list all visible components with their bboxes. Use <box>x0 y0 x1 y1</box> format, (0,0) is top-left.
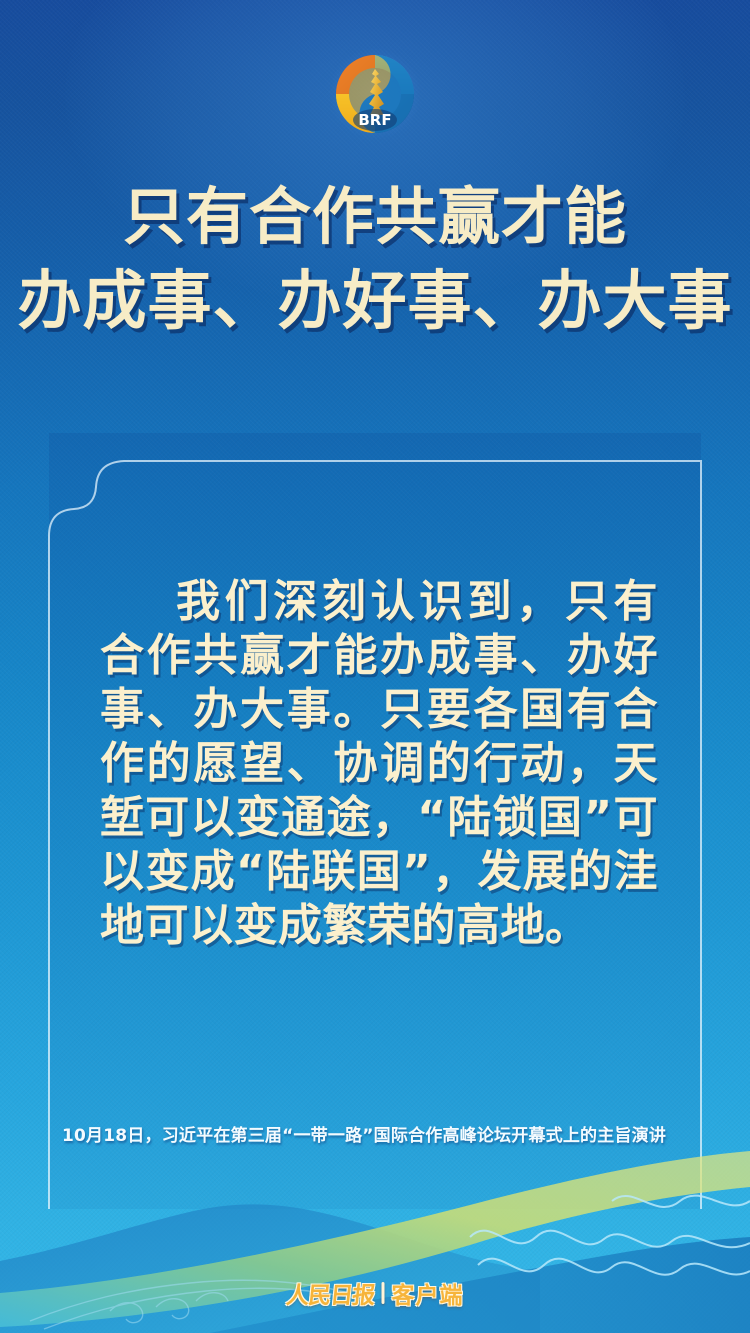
footer-logo[interactable]: 人民日报 客户端 <box>287 1276 464 1310</box>
brf-emblem: BRF <box>329 48 421 140</box>
quote-text: 我们深刻认识到，只有合作共赢才能办成事、办好事、办大事。只要各国有合作的愿望、协… <box>100 575 658 953</box>
emblem-wordmark: BRF <box>358 111 391 129</box>
headline-line-2: 办成事、办好事、办大事 <box>0 270 750 334</box>
footer-product: 客户端 <box>392 1276 464 1310</box>
headline-line-1: 只有合作共赢才能 <box>0 186 750 248</box>
source-caption: 10月18日，习近平在第三届“一带一路”国际合作高峰论坛开幕式上的主旨演讲 <box>62 1121 666 1146</box>
poster-canvas: BRF 只有合作共赢才能 办成事、办好事、办大事 我们深刻认识到，只有合作共赢才… <box>0 0 750 1333</box>
footer-brand: 人民日报 <box>285 1276 377 1310</box>
page-title: 只有合作共赢才能 办成事、办好事、办大事 <box>0 186 750 334</box>
footer-divider <box>382 1282 385 1304</box>
